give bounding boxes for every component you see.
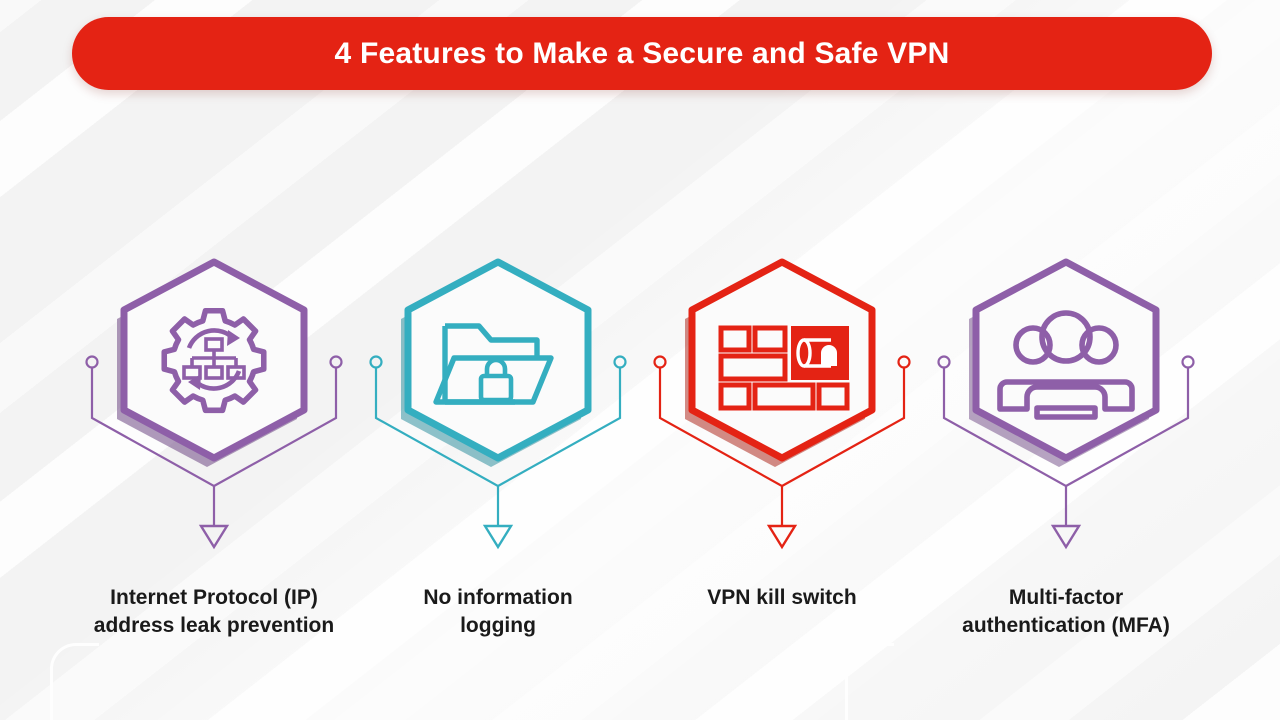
feature-label-3: VPN kill switch <box>637 584 927 612</box>
feature-label-line1: No information <box>353 584 643 612</box>
hexagon-graphic-2 <box>369 250 627 570</box>
feature-label-line2: address leak prevention <box>69 612 359 640</box>
feature-item-multi-factor-authentication[interactable]: Multi-factor authentication (MFA) <box>937 250 1195 670</box>
feature-label-line1: Multi-factor <box>921 584 1211 612</box>
feature-label-1: Internet Protocol (IP) address leak prev… <box>69 584 359 640</box>
infographic-canvas: 4 Features to Make a Secure and Safe VPN <box>0 0 1280 720</box>
vpn-tunnel-icon <box>791 326 849 380</box>
down-arrow-icon-1 <box>201 526 227 547</box>
feature-label-2: No information logging <box>353 584 643 640</box>
feature-label-line2: logging <box>353 612 643 640</box>
feature-row: Internet Protocol (IP) address leak prev… <box>0 250 1280 670</box>
feature-item-ip-leak-prevention[interactable]: Internet Protocol (IP) address leak prev… <box>85 250 343 670</box>
feature-item-vpn-kill-switch[interactable]: VPN kill switch <box>653 250 911 670</box>
hexagon-graphic-1 <box>85 250 343 570</box>
hexagon-graphic-3 <box>653 250 911 570</box>
hex-wrap: VPN kill switch <box>653 250 911 570</box>
feature-label-line1: VPN kill switch <box>637 584 927 612</box>
feature-label-line2: authentication (MFA) <box>921 612 1211 640</box>
down-arrow-icon-2 <box>485 526 511 547</box>
hex-wrap: Multi-factor authentication (MFA) <box>937 250 1195 570</box>
page-title: 4 Features to Make a Secure and Safe VPN <box>335 37 950 71</box>
hex-wrap: No information logging <box>369 250 627 570</box>
hex-wrap: Internet Protocol (IP) address leak prev… <box>85 250 343 570</box>
title-banner: 4 Features to Make a Secure and Safe VPN <box>72 17 1212 90</box>
feature-item-no-information-logging[interactable]: No information logging <box>369 250 627 670</box>
down-arrow-icon-3 <box>769 526 795 547</box>
down-arrow-icon-4 <box>1053 526 1079 547</box>
hexagon-graphic-4 <box>937 250 1195 570</box>
feature-label-4: Multi-factor authentication (MFA) <box>921 584 1211 640</box>
feature-label-line1: Internet Protocol (IP) <box>69 584 359 612</box>
